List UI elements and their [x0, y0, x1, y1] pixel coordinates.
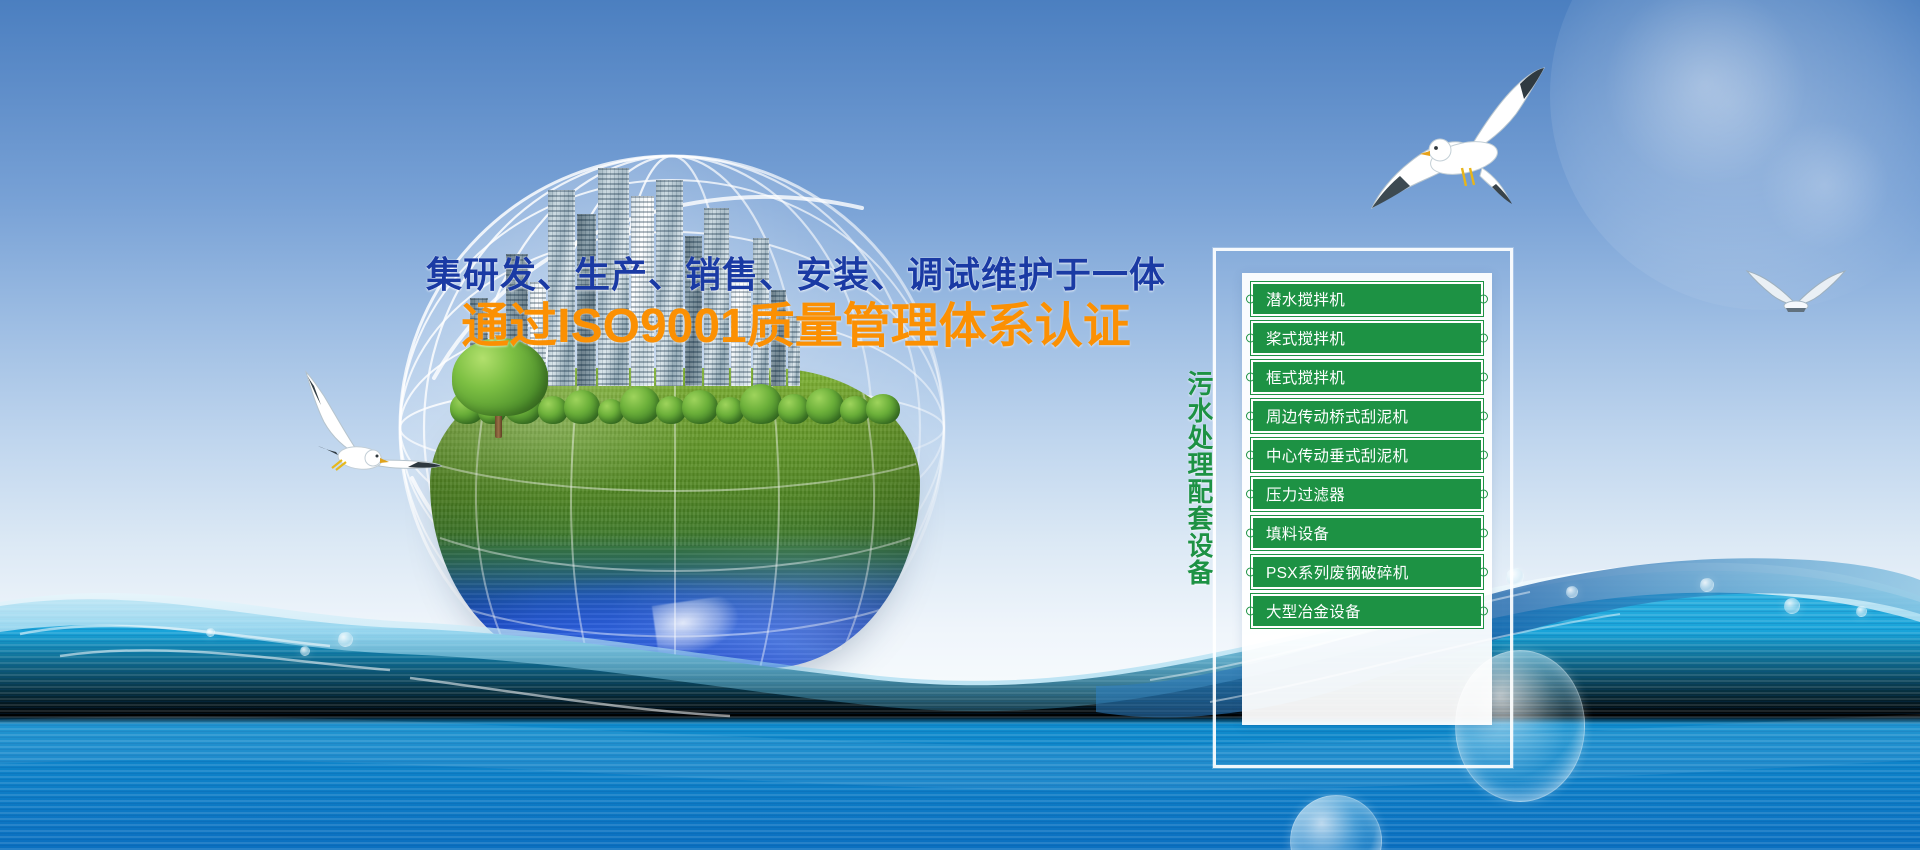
bubble-small-e	[1856, 606, 1867, 617]
eyelet-right-icon	[1479, 373, 1488, 382]
product-panel: 潜水搅拌机 桨式搅拌机 框式搅拌机 周边传动桥式刮泥机	[1213, 248, 1513, 768]
product-button-paddle-mixer[interactable]: 桨式搅拌机	[1251, 321, 1483, 355]
product-button-label: 压力过滤器	[1266, 483, 1345, 505]
glow-blob-large	[1550, 0, 1920, 310]
eyelet-left-icon	[1246, 412, 1255, 421]
panel-vertical-label: 污水处理配套设备	[1178, 370, 1212, 586]
product-button-pressure-filter[interactable]: 压力过滤器	[1251, 477, 1483, 511]
eyelet-left-icon	[1246, 373, 1255, 382]
eyelet-left-icon	[1246, 607, 1255, 616]
eyelet-right-icon	[1479, 529, 1488, 538]
glow-blob-small	[1760, 120, 1890, 250]
product-button-submersible-mixer[interactable]: 潜水搅拌机	[1251, 282, 1483, 316]
product-button-label: 框式搅拌机	[1266, 366, 1345, 388]
bubble-small-h	[206, 628, 215, 637]
product-button-label: 潜水搅拌机	[1266, 288, 1345, 310]
seagull-small-icon	[1742, 256, 1850, 330]
eyelet-right-icon	[1479, 334, 1488, 343]
product-button-center-drive-scraper[interactable]: 中心传动垂式刮泥机	[1251, 438, 1483, 472]
glow-blob-medium	[1600, 0, 1810, 190]
eyelet-left-icon	[1246, 334, 1255, 343]
product-button-peripheral-bridge-scraper[interactable]: 周边传动桥式刮泥机	[1251, 399, 1483, 433]
eyelet-right-icon	[1479, 568, 1488, 577]
product-button-label: 填料设备	[1266, 522, 1329, 544]
product-button-label: PSX系列废钢破碎机	[1266, 561, 1409, 583]
product-button-packing-equipment[interactable]: 填料设备	[1251, 516, 1483, 550]
eyelet-left-icon	[1246, 451, 1255, 460]
eyelet-left-icon	[1246, 295, 1255, 304]
banner-root: 集研发、生产、销售、安装、调试维护于一体 通过ISO9001质量管理体系认证	[0, 0, 1920, 850]
eyelet-right-icon	[1479, 607, 1488, 616]
bubble-small-d	[1784, 598, 1800, 614]
product-button-label: 桨式搅拌机	[1266, 327, 1345, 349]
product-panel-inner: 潜水搅拌机 桨式搅拌机 框式搅拌机 周边传动桥式刮泥机	[1242, 273, 1492, 725]
eyelet-left-icon	[1246, 490, 1255, 499]
eyelet-right-icon	[1479, 451, 1488, 460]
eyelet-left-icon	[1246, 568, 1255, 577]
product-button-frame-mixer[interactable]: 框式搅拌机	[1251, 360, 1483, 394]
headline-line-2: 通过ISO9001质量管理体系认证	[386, 300, 1206, 354]
product-button-list: 潜水搅拌机 桨式搅拌机 框式搅拌机 周边传动桥式刮泥机	[1251, 282, 1483, 628]
headline-block: 集研发、生产、销售、安装、调试维护于一体 通过ISO9001质量管理体系认证	[386, 254, 1206, 354]
product-button-large-metallurgical-equipment[interactable]: 大型冶金设备	[1251, 594, 1483, 628]
eyelet-right-icon	[1479, 490, 1488, 499]
eyelet-right-icon	[1479, 295, 1488, 304]
product-button-label: 大型冶金设备	[1266, 600, 1361, 622]
bubble-small-f	[338, 632, 353, 647]
product-button-label: 周边传动桥式刮泥机	[1266, 405, 1408, 427]
headline-line-1: 集研发、生产、销售、安装、调试维护于一体	[386, 254, 1206, 296]
bubble-small-b	[1566, 586, 1578, 598]
product-button-psx-scrap-shredder[interactable]: PSX系列废钢破碎机	[1251, 555, 1483, 589]
product-button-label: 中心传动垂式刮泥机	[1266, 444, 1408, 466]
bubble-small-c	[1700, 578, 1714, 592]
eyelet-left-icon	[1246, 529, 1255, 538]
bubble-small-g	[300, 646, 310, 656]
eyelet-right-icon	[1479, 412, 1488, 421]
water-graphic	[0, 510, 1920, 850]
seagull-medium-icon	[300, 368, 442, 480]
seagull-large-icon	[1370, 52, 1552, 212]
